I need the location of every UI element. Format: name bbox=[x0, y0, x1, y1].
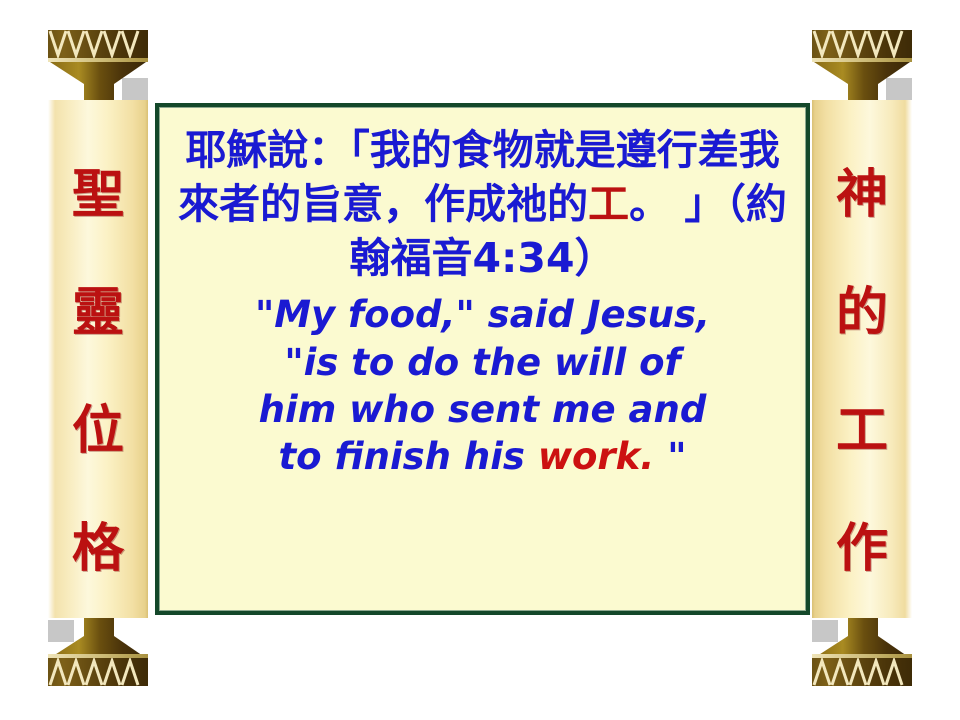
verse-chinese-highlight: 工 bbox=[588, 180, 629, 228]
left-scroll-char-4: 格 bbox=[72, 523, 124, 575]
left-scroll-char-1: 聖 bbox=[72, 169, 124, 221]
verse-english-line-2: "is to do the will of bbox=[175, 339, 790, 386]
scroll-finial-top-icon bbox=[812, 62, 912, 102]
verse-english-line-4: to finish his work. " bbox=[175, 433, 790, 480]
ornament-shadow bbox=[48, 620, 74, 642]
zigzag-band-icon bbox=[812, 658, 912, 686]
right-scroll-char-1: 神 bbox=[836, 169, 888, 221]
scroll-finial-top-icon bbox=[48, 62, 148, 102]
zigzag-band-icon bbox=[48, 30, 148, 58]
zigzag-band-icon bbox=[48, 658, 148, 686]
right-scroll: 神 的 工 作 bbox=[812, 30, 912, 686]
verse-english-line-4-after: " bbox=[654, 435, 686, 478]
right-scroll-heading: 神 的 工 作 bbox=[812, 118, 912, 608]
left-scroll-top-ornament bbox=[48, 30, 148, 102]
verse-english-line-4-before: to finish his bbox=[279, 435, 538, 478]
verse-english: "My food," said Jesus, "is to do the wil… bbox=[169, 291, 796, 480]
right-scroll-char-2: 的 bbox=[836, 287, 888, 339]
verse-english-line-1: "My food," said Jesus, bbox=[175, 291, 790, 338]
verse-chinese: 耶穌說：「我的食物就是遵行差我來者的旨意，作成祂的工。 」（約翰福音4:34） bbox=[169, 123, 796, 285]
zigzag-band-icon bbox=[812, 30, 912, 58]
right-scroll-char-3: 工 bbox=[836, 405, 888, 457]
verse-panel: 耶穌說：「我的食物就是遵行差我來者的旨意，作成祂的工。 」（約翰福音4:34） … bbox=[155, 103, 810, 615]
right-scroll-bottom-ornament bbox=[812, 618, 912, 686]
left-scroll-char-3: 位 bbox=[72, 405, 124, 457]
left-scroll: 聖 靈 位 格 bbox=[48, 30, 148, 686]
ornament-shadow bbox=[812, 620, 838, 642]
left-scroll-bottom-ornament bbox=[48, 618, 148, 686]
verse-english-highlight: work. bbox=[538, 435, 655, 478]
verse-english-line-3: him who sent me and bbox=[175, 386, 790, 433]
right-scroll-top-ornament bbox=[812, 30, 912, 102]
left-scroll-char-2: 靈 bbox=[72, 287, 124, 339]
right-scroll-char-4: 作 bbox=[836, 523, 888, 575]
slide-canvas: 聖 靈 位 格 bbox=[0, 0, 960, 720]
left-scroll-heading: 聖 靈 位 格 bbox=[48, 118, 148, 608]
